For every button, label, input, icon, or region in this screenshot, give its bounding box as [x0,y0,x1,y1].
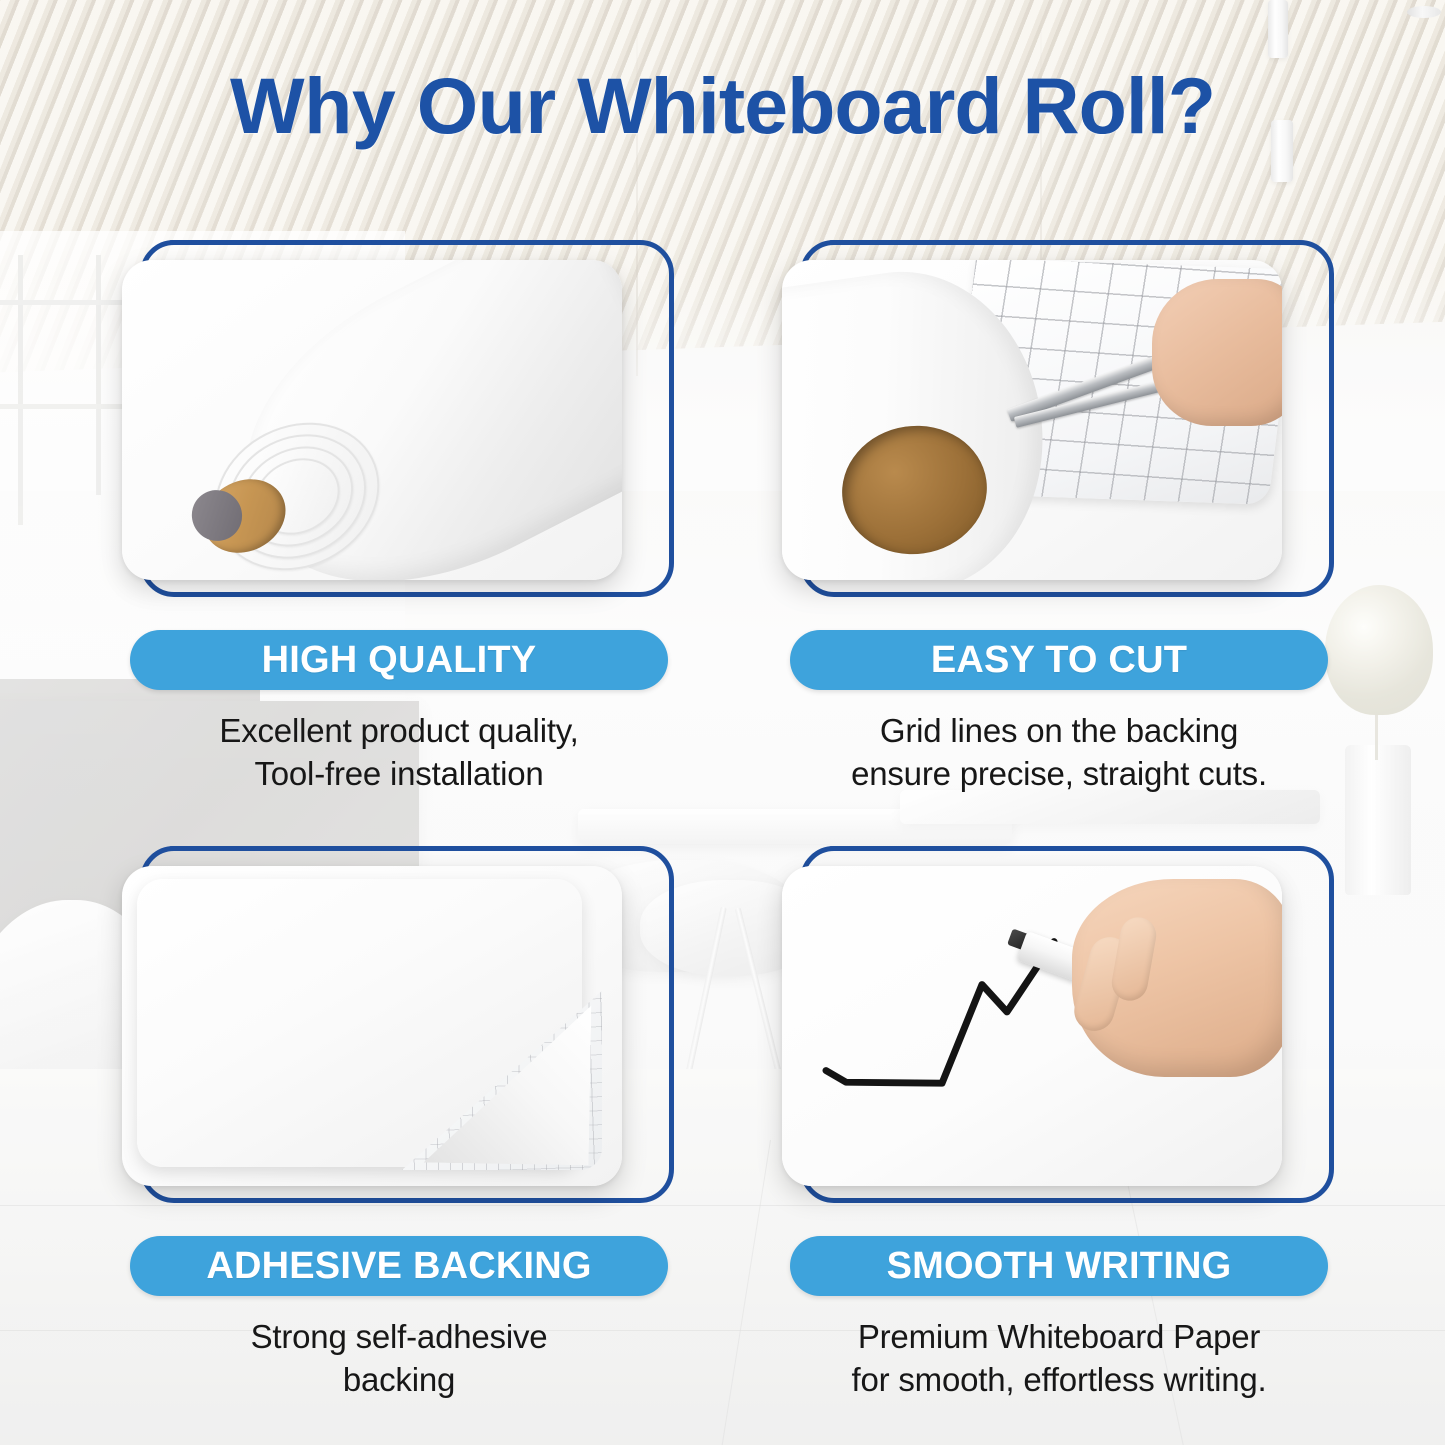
badge-label: HIGH QUALITY [262,641,537,679]
page-title: Why Our Whiteboard Roll? [0,66,1445,145]
product-photo-peel [122,866,622,1186]
feature-card-adhesive-backing: ADHESIVE BACKING Strong self-adhesive ba… [122,838,667,1438]
description-line-1: Premium Whiteboard Paper [782,1316,1336,1359]
badge-adhesive-backing: ADHESIVE BACKING [130,1236,668,1296]
description-line-2: ensure precise, straight cuts. [782,753,1336,796]
page-title-light: Why Our [230,61,577,150]
product-photo-cutting [782,260,1282,580]
feature-card-high-quality: HIGH QUALITY Excellent product quality, … [122,232,667,832]
description-line-1: Excellent product quality, [122,710,676,753]
badge-label: SMOOTH WRITING [887,1247,1232,1285]
badge-label: EASY TO CUT [931,641,1187,679]
product-photo-roll [122,260,622,580]
description-line-1: Grid lines on the backing [782,710,1336,753]
description-smooth-writing: Premium Whiteboard Paper for smooth, eff… [782,1316,1336,1402]
product-photo-writing [782,866,1282,1186]
badge-easy-to-cut: EASY TO CUT [790,630,1328,690]
description-high-quality: Excellent product quality, Tool-free ins… [122,710,676,796]
infographic-root: Why Our Whiteboard Roll? HIGH QUALITY Ex… [0,0,1445,1445]
description-line-1: Strong self-adhesive [122,1316,676,1359]
description-easy-to-cut: Grid lines on the backing ensure precise… [782,710,1336,796]
badge-high-quality: HIGH QUALITY [130,630,668,690]
feature-card-smooth-writing: SMOOTH WRITING Premium Whiteboard Paper … [782,838,1327,1438]
description-adhesive-backing: Strong self-adhesive backing [122,1316,676,1402]
page-title-bold: Whiteboard Roll? [577,61,1215,150]
description-line-2: Tool-free installation [122,753,676,796]
description-line-2: backing [122,1359,676,1402]
description-line-2: for smooth, effortless writing. [782,1359,1336,1402]
badge-smooth-writing: SMOOTH WRITING [790,1236,1328,1296]
badge-label: ADHESIVE BACKING [206,1247,591,1285]
feature-card-easy-to-cut: EASY TO CUT Grid lines on the backing en… [782,232,1327,832]
hand-holding-scissors [1152,279,1282,426]
